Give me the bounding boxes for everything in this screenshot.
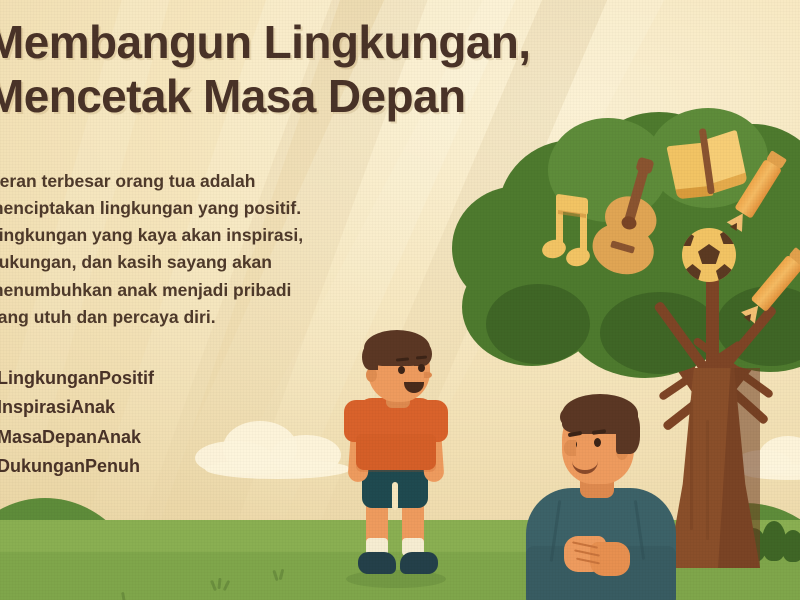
boy-character <box>338 330 458 600</box>
poster-canvas: Membangun Lingkungan, Mencetak Masa Depa… <box>0 0 800 600</box>
tree-trunk-line <box>690 400 693 530</box>
page-title: Membangun Lingkungan, Mencetak Masa Depa… <box>0 16 746 124</box>
soccer-ball-icon <box>682 228 736 282</box>
tree-trunk-line <box>706 420 709 540</box>
father-character <box>520 388 690 600</box>
body-paragraph: Peran terbesar orang tua adalah mencipta… <box>0 168 408 331</box>
tree-canopy-shadow <box>486 284 590 364</box>
bush <box>782 530 800 562</box>
hashtag-list: #LingkunganPositif #InspirasiAnak #MasaD… <box>0 364 347 481</box>
